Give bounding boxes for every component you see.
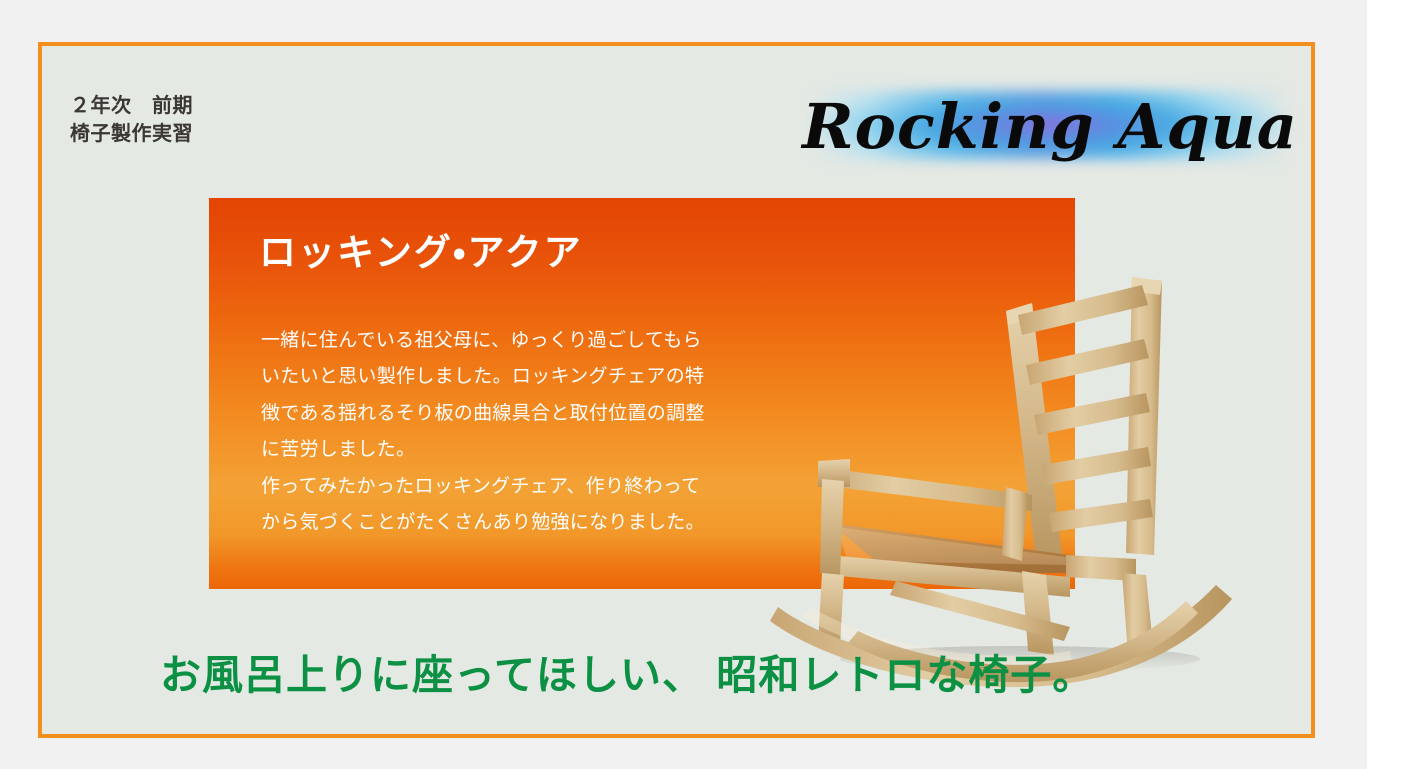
brand-title-text: Rocking Aqua [800,78,1300,174]
slide-canvas: ２年次 前期 椅子製作実習 Rocking Aqua ロッキング・アクア 一緒に… [0,0,1412,769]
panel-body-text: 一緒に住んでいる祖父母に、ゆっくり過ごしてもら いたいと思い製作しました。ロッキ… [261,323,781,542]
description-panel: ロッキング・アクア 一緒に住んでいる祖父母に、ゆっくり過ごしてもら いたいと思い… [209,198,1075,589]
slide-caption: お風呂上りに座ってほしい、 昭和レトロな椅子。 [160,641,1094,701]
course-label: ２年次 前期 椅子製作実習 [70,93,193,148]
panel-heading: ロッキング・アクア [259,222,583,276]
brand-title: Rocking Aqua [800,78,1300,174]
